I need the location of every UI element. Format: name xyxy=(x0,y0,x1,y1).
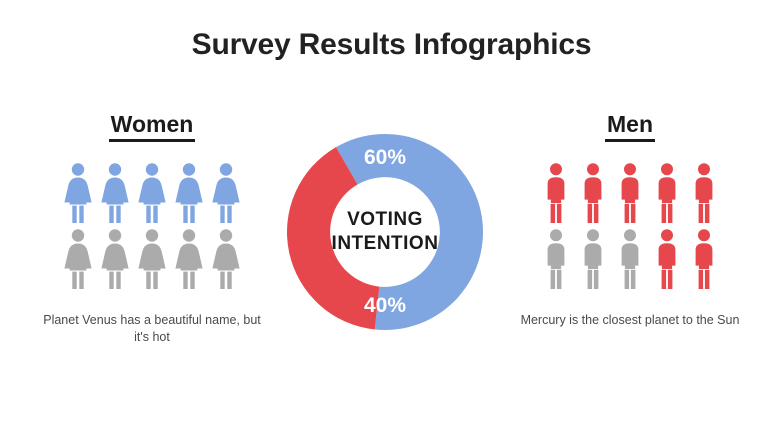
person-female-icon xyxy=(63,162,93,224)
panel-women-caption: Planet Venus has a beautiful name, but i… xyxy=(22,312,282,346)
people-row xyxy=(63,162,241,224)
person-male-icon xyxy=(578,162,608,224)
people-row xyxy=(541,162,719,224)
panel-men-heading: Men xyxy=(500,112,760,142)
person-male-icon xyxy=(689,228,719,290)
person-female-icon xyxy=(63,228,93,290)
person-male-icon xyxy=(652,228,682,290)
people-grid-women xyxy=(22,162,282,290)
person-female-icon xyxy=(100,228,130,290)
panel-women-heading: Women xyxy=(22,112,282,142)
person-female-icon xyxy=(211,228,241,290)
person-female-icon xyxy=(137,228,167,290)
donut-label-red: 40% xyxy=(287,294,483,318)
person-male-icon xyxy=(541,228,571,290)
person-female-icon xyxy=(100,162,130,224)
person-female-icon xyxy=(137,162,167,224)
people-row xyxy=(541,228,719,290)
person-female-icon xyxy=(211,162,241,224)
person-male-icon xyxy=(541,162,571,224)
panel-women-heading-text: Women xyxy=(109,112,196,142)
person-male-icon xyxy=(652,162,682,224)
donut-label-blue: 60% xyxy=(287,146,483,170)
slide-canvas: Survey Results Infographics Women Planet… xyxy=(0,0,783,440)
page-title: Survey Results Infographics xyxy=(0,28,783,62)
people-grid-men xyxy=(500,162,760,290)
panel-men: Men Mercury is the closest planet to the… xyxy=(500,112,760,329)
panel-women: Women Planet Venus has a beautiful name,… xyxy=(22,112,282,346)
panel-men-heading-text: Men xyxy=(605,112,655,142)
person-male-icon xyxy=(615,228,645,290)
panel-men-caption: Mercury is the closest planet to the Sun xyxy=(500,312,760,329)
person-male-icon xyxy=(615,162,645,224)
person-male-icon xyxy=(578,228,608,290)
person-male-icon xyxy=(689,162,719,224)
person-female-icon xyxy=(174,162,204,224)
person-female-icon xyxy=(174,228,204,290)
people-row xyxy=(63,228,241,290)
voting-intention-donut-chart: VOTING INTENTION 60% 40% xyxy=(287,134,483,330)
